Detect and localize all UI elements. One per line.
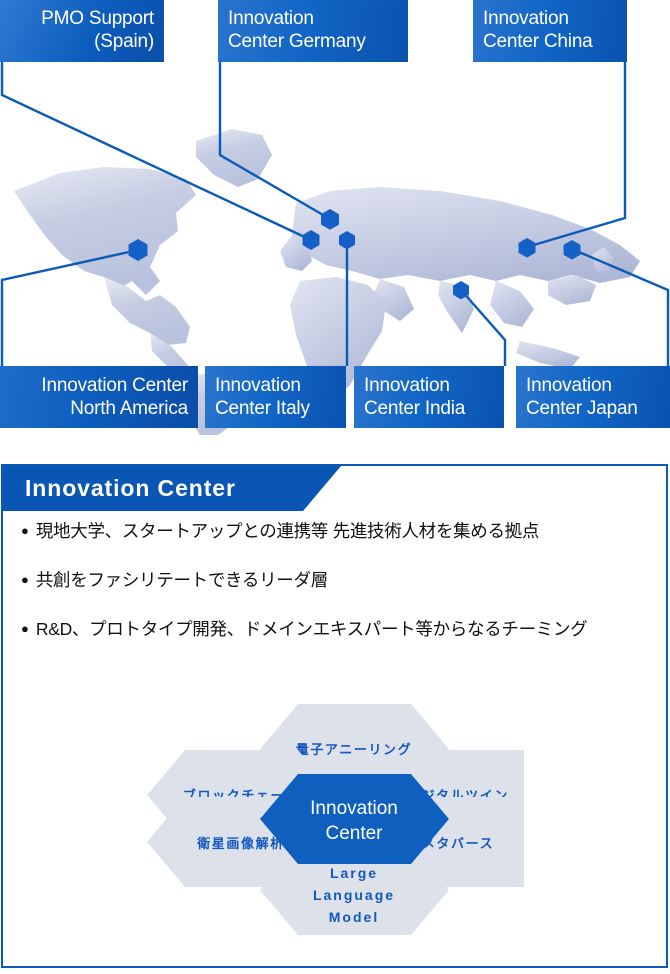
connector-pmo-spain — [2, 62, 311, 240]
panel-title: Innovation Center — [25, 475, 236, 502]
feature-bullet-list: ● 現地大学、スタートアップとの連携等 先進技術人材を集める拠点 ● 共創をファ… — [3, 521, 666, 668]
bullet-dot-icon: ● — [21, 521, 29, 541]
callout-line2: Center China — [483, 31, 593, 52]
callout-line1: Innovation — [364, 375, 450, 396]
bullet-text: 共創をファシリテートできるリーダ層 — [36, 570, 328, 591]
callout-innovation-center-china[interactable]: Innovation Center China — [473, 0, 627, 62]
hex-label-line3: Model — [329, 909, 379, 925]
marker-japan — [564, 240, 581, 260]
hex-label-line1: Large — [330, 865, 378, 881]
panel-title-banner: Innovation Center — [3, 466, 341, 511]
bullet-text: R&D、プロトタイプ開発、ドメインエキスパート等からなるチーミング — [36, 619, 588, 640]
hex-label: 量子アニーリング — [296, 742, 413, 757]
world-map-section: PMO Support (Spain) Innovation Center Ge… — [0, 0, 670, 455]
connector-india — [461, 290, 505, 366]
connector-germany — [220, 62, 330, 219]
hex-center-label-line2: Center — [325, 823, 383, 844]
callout-innovation-center-north-america[interactable]: Innovation Center North America — [0, 366, 198, 428]
hex-label: 衛星画像解析 — [196, 836, 285, 851]
callout-line2: (Spain) — [94, 31, 154, 52]
bullet-dot-icon: ● — [21, 619, 29, 639]
callout-line1: Innovation — [228, 8, 314, 29]
callout-line2: Center Japan — [526, 398, 638, 419]
callout-line2: Center Germany — [228, 31, 366, 52]
connector-north-america — [2, 250, 138, 366]
hex-center-innovation-center[interactable]: Innovation Center — [260, 774, 449, 864]
callout-line1: Innovation — [215, 375, 301, 396]
connector-japan — [572, 249, 668, 366]
callout-line1: PMO Support — [41, 8, 154, 29]
callout-line1: Innovation — [526, 375, 612, 396]
callout-pmo-support-spain[interactable]: PMO Support (Spain) — [0, 0, 164, 62]
connector-china — [527, 62, 625, 247]
bullet-text: 現地大学、スタートアップとの連携等 先進技術人材を集める拠点 — [36, 521, 539, 542]
list-item: ● 現地大学、スタートアップとの連携等 先進技術人材を集める拠点 — [21, 521, 666, 542]
callout-line2: Center India — [364, 398, 465, 419]
callout-line1: Innovation Center — [41, 375, 188, 396]
marker-germany — [321, 209, 339, 230]
hex-label-line2: Language — [313, 887, 395, 903]
marker-spain — [303, 230, 320, 250]
callout-line2: North America — [70, 398, 188, 419]
list-item: ● R&D、プロトタイプ開発、ドメインエキスパート等からなるチーミング — [21, 619, 666, 640]
callout-innovation-center-japan[interactable]: Innovation Center Japan — [516, 366, 670, 428]
technology-hex-diagram: 量子アニーリング ブロックチェーン デジタルツイン 衛星画像解析 メタバース L… — [143, 702, 528, 960]
callout-innovation-center-italy[interactable]: Innovation Center Italy — [205, 366, 346, 428]
map-location-markers — [129, 209, 581, 299]
callout-line1: Innovation — [483, 8, 569, 29]
callout-line2: Center Italy — [215, 398, 310, 419]
marker-north-america — [129, 239, 148, 261]
marker-italy — [339, 231, 355, 249]
callout-innovation-center-india[interactable]: Innovation Center India — [354, 366, 504, 428]
bullet-dot-icon: ● — [21, 570, 29, 590]
callout-innovation-center-germany[interactable]: Innovation Center Germany — [218, 0, 408, 62]
marker-china — [519, 238, 536, 258]
hex-center-label-line1: Innovation — [310, 798, 398, 819]
list-item: ● 共創をファシリテートできるリーダ層 — [21, 570, 666, 591]
